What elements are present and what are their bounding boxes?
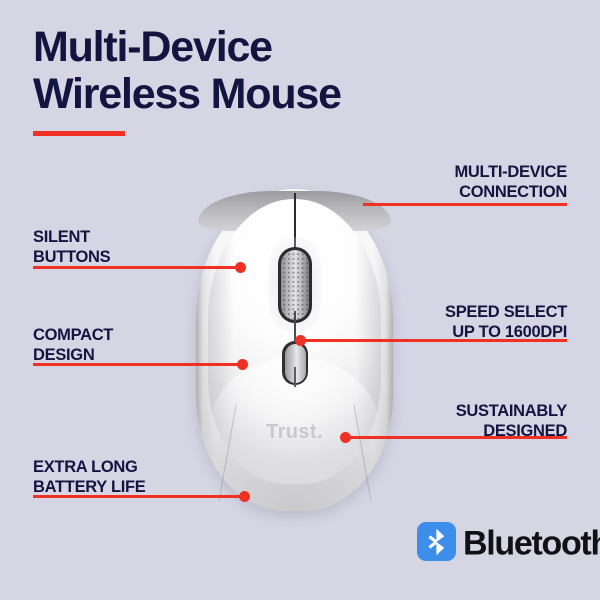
leader-line-multi-device-connection	[363, 203, 567, 206]
mouse-button-seam-bottom	[294, 367, 296, 387]
leader-line-extra-long-battery-life	[33, 495, 245, 498]
title-underline-rule	[33, 131, 125, 136]
callout-speed-select: SPEED SELECT UP TO 1600DPI	[445, 303, 567, 342]
leader-dot-silent-buttons	[235, 262, 246, 273]
leader-line-speed-select	[300, 339, 567, 342]
leader-dot-speed-select	[295, 335, 306, 346]
title-line-2: Wireless Mouse	[33, 71, 553, 118]
leader-dot-extra-long-battery-life	[239, 491, 250, 502]
page-title: Multi-Device Wireless Mouse	[33, 24, 553, 118]
callout-silent-buttons: SILENT BUTTONS	[33, 228, 110, 267]
leader-line-silent-buttons	[33, 266, 241, 269]
bluetooth-logo: Bluetooth®	[417, 522, 600, 561]
leader-line-compact-design	[33, 363, 243, 366]
callout-label-line-1: SPEED SELECT	[445, 303, 567, 323]
callout-compact-design: COMPACT DESIGN	[33, 326, 113, 365]
bluetooth-wordmark-text: Bluetooth	[463, 524, 600, 562]
callout-label-line-2: CONNECTION	[454, 183, 567, 203]
trust-brand-wordmark: Trust.	[196, 421, 393, 444]
callout-label-line-1: MULTI-DEVICE	[454, 163, 567, 183]
callout-label-line-1: EXTRA LONG	[33, 458, 146, 478]
callout-label-line-1: COMPACT	[33, 326, 113, 346]
callout-multi-device-connection: MULTI-DEVICE CONNECTION	[454, 163, 567, 202]
callout-label-line-1: SILENT	[33, 228, 110, 248]
leader-dot-compact-design	[237, 359, 248, 370]
scroll-wheel	[281, 250, 309, 320]
bluetooth-wordmark: Bluetooth®	[463, 523, 600, 560]
leader-line-sustainably-designed	[345, 436, 567, 439]
callout-extra-long-battery-life: EXTRA LONG BATTERY LIFE	[33, 458, 146, 497]
callout-label-line-2: BUTTONS	[33, 248, 110, 268]
title-line-1: Multi-Device	[33, 24, 553, 71]
leader-dot-sustainably-designed	[340, 432, 351, 443]
callout-label-line-1: SUSTAINABLY	[456, 402, 567, 422]
product-infographic: Multi-Device Wireless Mouse Trust. MULTI…	[0, 0, 600, 600]
product-image-mouse: Trust.	[196, 189, 393, 511]
scroll-wheel-texture	[281, 250, 309, 320]
bluetooth-icon	[417, 522, 456, 561]
